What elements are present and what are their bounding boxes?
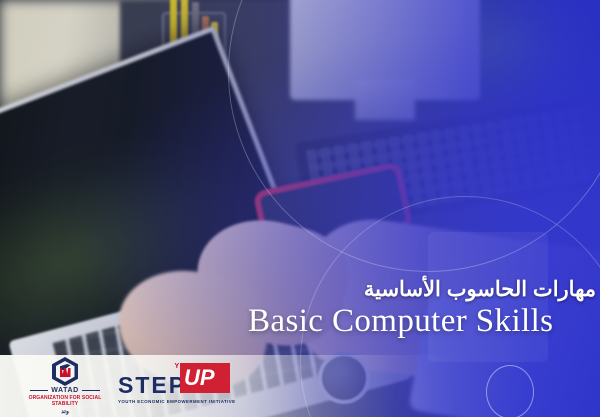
title-english: Basic Computer Skills [248,303,553,340]
watad-emblem-wrap [16,357,114,386]
hexagon-inner [56,361,75,382]
watad-name-row: WATAD [16,387,114,394]
stepup-logo[interactable]: YOUTH STEP UP YOUTH ECONOMIC EMPOWERMENT… [118,363,236,404]
watad-arabic-name: وتد [16,408,114,415]
title-arabic: مهارات الحاسوب الأساسية [364,277,596,302]
stepup-up-label: UP [184,365,215,391]
watad-name: WATAD [51,387,79,394]
course-promo-banner: مهارات الحاسوب الأساسية Basic Computer S… [0,0,600,417]
stepup-main-row: STEP UP [118,372,236,396]
hexagon-red-shape [60,368,71,377]
logo-row: WATAD ORGANIZATION FOR SOCIAL STABILITY … [0,355,600,417]
rule-left [30,390,48,391]
stepup-tagline: YOUTH ECONOMIC EMPOWERMENT INITIATIVE [118,399,236,404]
watad-tagline: ORGANIZATION FOR SOCIAL STABILITY [16,395,114,407]
rule-right [82,390,100,391]
hexagon-icon [52,357,78,386]
stepup-step-label: STEP [118,372,186,399]
watad-logo[interactable]: WATAD ORGANIZATION FOR SOCIAL STABILITY … [16,357,114,415]
